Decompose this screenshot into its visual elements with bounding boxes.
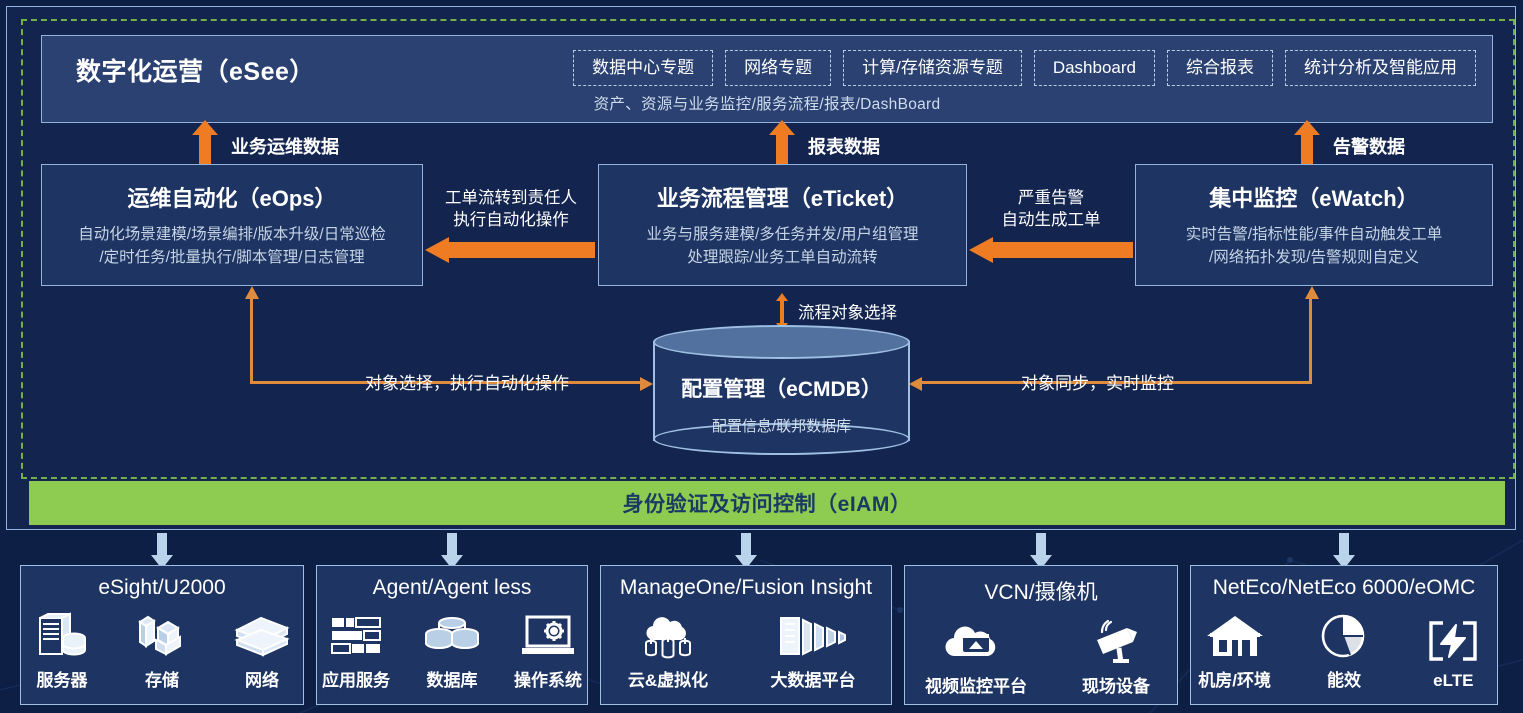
arrow-label-process-object-select: 流程对象选择 bbox=[798, 299, 897, 323]
module-eticket-title: 业务流程管理（eTicket） bbox=[599, 181, 966, 213]
source-item-elte-label: eLTE bbox=[1433, 671, 1473, 691]
esee-tab-comprehensive-report[interactable]: 综合报表 bbox=[1167, 50, 1273, 86]
elte-icon bbox=[1425, 613, 1481, 665]
network-icon bbox=[233, 608, 291, 660]
energy-efficiency-icon bbox=[1318, 608, 1370, 660]
up-arrow-label-report-data: 报表数据 bbox=[808, 133, 880, 159]
source-box-manageone[interactable]: ManageOne/Fusion Insight bbox=[600, 565, 892, 705]
source-item-camera-label: 现场设备 bbox=[1082, 672, 1150, 697]
down-arrow-to-vcn bbox=[1030, 533, 1052, 569]
up-arrow-alarm-data bbox=[1294, 120, 1320, 166]
cmdb-cylinder-top bbox=[653, 325, 910, 359]
source-item-energy-efficiency[interactable]: 能效 bbox=[1300, 608, 1387, 691]
up-arrow-ops-data bbox=[192, 120, 218, 166]
arrow-label-ticket-to-eops: 工单流转到责任人 执行自动化操作 bbox=[431, 187, 591, 232]
up-arrow-label-ops-data: 业务运维数据 bbox=[231, 133, 339, 159]
esee-tab-data-center[interactable]: 数据中心专题 bbox=[573, 50, 713, 86]
down-arrow-to-manageone bbox=[735, 533, 757, 569]
source-item-cloud-virtualization-label: 云&虚拟化 bbox=[628, 666, 708, 691]
server-icon bbox=[36, 608, 88, 660]
arrow-label-ewatch-to-eticket-line2: 自动生成工单 bbox=[973, 209, 1129, 231]
module-ewatch-desc-line1: 实时告警/指标性能/事件自动触发工单 bbox=[1144, 223, 1484, 246]
arrow-label-ewatch-to-eticket-line1: 严重告警 bbox=[973, 187, 1129, 209]
source-item-energy-efficiency-label: 能效 bbox=[1327, 666, 1361, 691]
source-item-network-label: 网络 bbox=[245, 666, 279, 691]
cmdb-text: 配置管理（eCMDB） 配置信息/联邦数据库 bbox=[653, 373, 910, 436]
module-eops-desc-line1: 自动化场景建模/场景编排/版本升级/日常巡检 bbox=[50, 223, 414, 246]
source-box-vcn-title: VCN/摄像机 bbox=[905, 576, 1177, 606]
module-eops-desc: 自动化场景建模/场景编排/版本升级/日常巡检 /定时任务/批量执行/脚本管理/日… bbox=[42, 223, 422, 270]
source-item-camera[interactable]: 现场设备 bbox=[1066, 614, 1166, 697]
source-item-server-label: 服务器 bbox=[37, 666, 88, 691]
esee-title: 数字化运营（eSee） bbox=[76, 52, 346, 88]
down-arrow-to-neteco bbox=[1333, 533, 1355, 569]
source-box-agent[interactable]: Agent/Agent less 应用服务 bbox=[316, 565, 588, 705]
source-box-neteco[interactable]: NetEco/NetEco 6000/eOMC 机房/环境 bbox=[1190, 565, 1498, 705]
module-eticket[interactable]: 业务流程管理（eTicket） 业务与服务建模/多任务并发/用户组管理 处理跟踪… bbox=[598, 164, 967, 286]
source-item-storage[interactable]: 存储 bbox=[121, 608, 203, 691]
source-box-esight[interactable]: eSight/U2000 服务器 bbox=[20, 565, 304, 705]
cmdb-cylinder[interactable]: 配置管理（eCMDB） 配置信息/联邦数据库 bbox=[653, 325, 910, 455]
camera-icon bbox=[1087, 614, 1145, 666]
source-box-vcn[interactable]: VCN/摄像机 视频监控平台 bbox=[904, 565, 1178, 705]
source-box-neteco-title: NetEco/NetEco 6000/eOMC bbox=[1191, 576, 1497, 600]
esee-tab-dashboard[interactable]: Dashboard bbox=[1034, 50, 1155, 86]
source-item-datacenter-room[interactable]: 机房/环境 bbox=[1191, 608, 1278, 691]
source-item-server[interactable]: 服务器 bbox=[21, 608, 103, 691]
source-item-big-data-platform-label: 大数据平台 bbox=[771, 666, 856, 691]
source-item-cloud-virtualization[interactable]: 云&虚拟化 bbox=[624, 608, 712, 691]
database-icon bbox=[423, 608, 481, 660]
down-arrow-to-esight bbox=[151, 533, 173, 569]
module-ewatch-title: 集中监控（eWatch） bbox=[1136, 181, 1492, 213]
source-box-agent-title: Agent/Agent less bbox=[317, 576, 587, 600]
cmdb-subtitle: 配置信息/联邦数据库 bbox=[653, 415, 910, 436]
source-item-storage-label: 存储 bbox=[145, 666, 179, 691]
source-item-operating-system[interactable]: 操作系统 bbox=[509, 608, 587, 691]
module-eops-title: 运维自动化（eOps） bbox=[42, 181, 422, 213]
module-ewatch-desc-line2: /网络拓扑发现/告警规则自定义 bbox=[1144, 246, 1484, 269]
source-item-database-label: 数据库 bbox=[427, 666, 478, 691]
arrow-ewatch-to-eticket bbox=[969, 237, 1133, 263]
arrow-label-ticket-to-eops-line1: 工单流转到责任人 bbox=[431, 187, 591, 209]
source-item-operating-system-label: 操作系统 bbox=[514, 666, 582, 691]
esee-tab-compute-storage[interactable]: 计算/存储资源专题 bbox=[843, 50, 1022, 86]
module-eticket-desc-line1: 业务与服务建模/多任务并发/用户组管理 bbox=[607, 223, 958, 246]
source-box-esight-items: 服务器 存储 bbox=[21, 608, 303, 691]
video-surveillance-icon bbox=[942, 614, 1010, 666]
module-ewatch-desc: 实时告警/指标性能/事件自动触发工单 /网络拓扑发现/告警规则自定义 bbox=[1136, 223, 1492, 270]
source-item-video-surveillance-label: 视频监控平台 bbox=[925, 672, 1027, 697]
source-item-database[interactable]: 数据库 bbox=[413, 608, 491, 691]
arrow-label-object-select-exec: 对象选择，执行自动化操作 bbox=[365, 369, 569, 394]
arrow-label-ewatch-to-eticket: 严重告警 自动生成工单 bbox=[973, 187, 1129, 232]
source-item-application-service-label: 应用服务 bbox=[322, 666, 390, 691]
source-item-datacenter-room-label: 机房/环境 bbox=[1198, 666, 1271, 691]
cloud-virtualization-icon bbox=[639, 608, 697, 660]
source-box-agent-items: 应用服务 数据库 bbox=[317, 608, 587, 691]
source-box-esight-title: eSight/U2000 bbox=[21, 576, 303, 600]
up-arrow-report-data bbox=[769, 120, 795, 166]
big-data-platform-icon bbox=[777, 608, 849, 660]
arrow-label-ticket-to-eops-line2: 执行自动化操作 bbox=[431, 209, 591, 231]
cmdb-title: 配置管理（eCMDB） bbox=[653, 373, 910, 403]
source-item-application-service[interactable]: 应用服务 bbox=[317, 608, 395, 691]
datacenter-room-icon bbox=[1205, 608, 1265, 660]
esee-tab-list: 数据中心专题 网络专题 计算/存储资源专题 Dashboard 综合报表 统计分… bbox=[342, 49, 1476, 87]
arrow-label-object-sync-monitor: 对象同步，实时监控 bbox=[1021, 369, 1174, 394]
module-ewatch[interactable]: 集中监控（eWatch） 实时告警/指标性能/事件自动触发工单 /网络拓扑发现/… bbox=[1135, 164, 1493, 286]
source-box-manageone-title: ManageOne/Fusion Insight bbox=[601, 576, 891, 600]
module-eticket-desc-line2: 处理跟踪/业务工单自动流转 bbox=[607, 246, 958, 269]
esee-header-box: 数字化运营（eSee） 数据中心专题 网络专题 计算/存储资源专题 Dashbo… bbox=[41, 35, 1493, 123]
down-arrow-to-agent bbox=[441, 533, 463, 569]
source-box-manageone-items: 云&虚拟化 大数据平台 bbox=[601, 608, 891, 691]
esee-tab-statistical-analysis[interactable]: 统计分析及智能应用 bbox=[1285, 50, 1476, 86]
storage-icon bbox=[134, 608, 190, 660]
source-item-elte[interactable]: eLTE bbox=[1410, 613, 1497, 691]
source-item-big-data-platform[interactable]: 大数据平台 bbox=[758, 608, 868, 691]
application-service-icon bbox=[328, 608, 384, 660]
eiam-bar[interactable]: 身份验证及访问控制（eIAM） bbox=[29, 481, 1505, 525]
diagram-root: 数字化运营（eSee） 数据中心专题 网络专题 计算/存储资源专题 Dashbo… bbox=[0, 0, 1523, 713]
platform-panel: 数字化运营（eSee） 数据中心专题 网络专题 计算/存储资源专题 Dashbo… bbox=[6, 6, 1516, 530]
operating-system-icon bbox=[520, 608, 576, 660]
source-item-video-surveillance[interactable]: 视频监控平台 bbox=[916, 614, 1036, 697]
module-eops-desc-line2: /定时任务/批量执行/脚本管理/日志管理 bbox=[50, 246, 414, 269]
up-arrow-label-alarm-data: 告警数据 bbox=[1333, 133, 1405, 159]
arrow-ticket-to-eops bbox=[425, 237, 595, 263]
source-box-vcn-items: 视频监控平台 现场设备 bbox=[905, 614, 1177, 697]
esee-subtitle: 资产、资源与业务监控/服务流程/报表/DashBoard bbox=[42, 92, 1492, 114]
source-box-neteco-items: 机房/环境 能效 bbox=[1191, 608, 1497, 691]
source-item-network[interactable]: 网络 bbox=[221, 608, 303, 691]
esee-tab-network[interactable]: 网络专题 bbox=[725, 50, 831, 86]
eiam-title: 身份验证及访问控制（eIAM） bbox=[623, 488, 912, 518]
module-eops[interactable]: 运维自动化（eOps） 自动化场景建模/场景编排/版本升级/日常巡检 /定时任务… bbox=[41, 164, 423, 286]
module-eticket-desc: 业务与服务建模/多任务并发/用户组管理 处理跟踪/业务工单自动流转 bbox=[599, 223, 966, 270]
